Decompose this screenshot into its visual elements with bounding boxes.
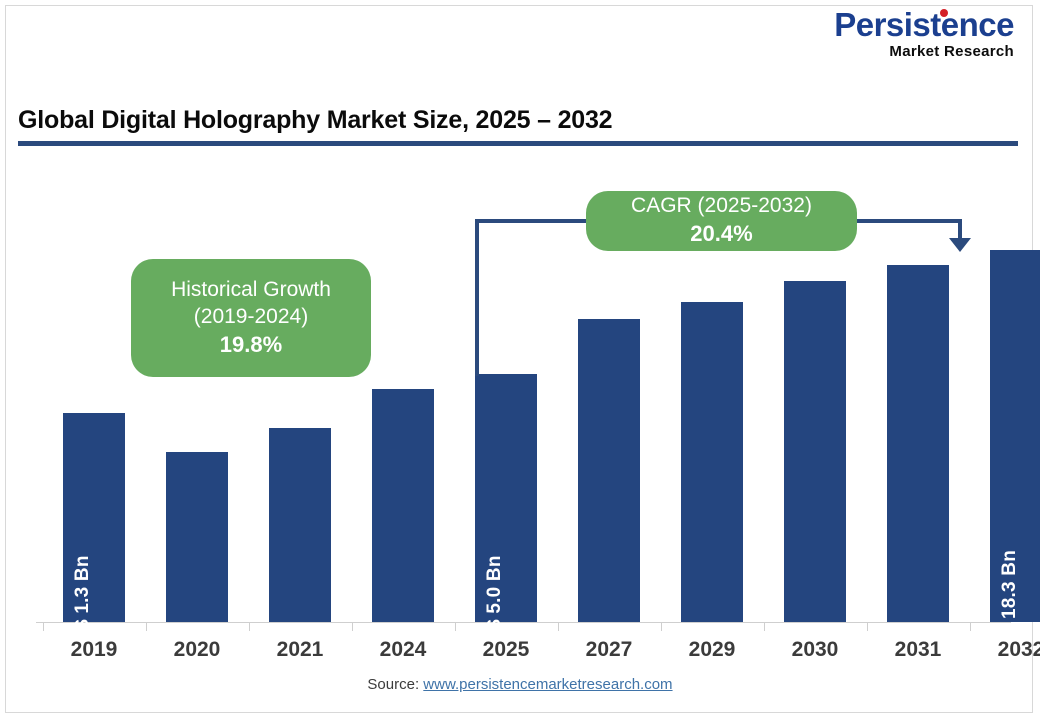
source-line: Source: www.persistencemarketresearch.co… xyxy=(0,676,1040,693)
x-axis-tick-2025 xyxy=(455,622,456,631)
x-axis-label-2029: 2029 xyxy=(661,638,763,662)
bar-2025[interactable]: US$ 5.0 Bn xyxy=(475,374,537,622)
bar-2019[interactable]: US$ 1.3 Bn xyxy=(63,413,125,622)
x-axis-label-2020: 2020 xyxy=(146,638,248,662)
x-axis-tick-2031 xyxy=(867,622,868,631)
bar-2032[interactable]: US$ 18.3 Bn xyxy=(990,250,1040,622)
x-axis-tick-2027 xyxy=(558,622,559,631)
x-axis-tick-2020 xyxy=(146,622,147,631)
x-axis-label-2031: 2031 xyxy=(867,638,969,662)
x-axis-tick-2032 xyxy=(970,622,971,631)
infographic-canvas: Persistence Market Research Global Digit… xyxy=(0,0,1040,720)
x-axis-label-2019: 2019 xyxy=(43,638,145,662)
x-axis-tick-2021 xyxy=(249,622,250,631)
bar-2031[interactable] xyxy=(887,265,949,622)
x-axis-tick-2029 xyxy=(661,622,662,631)
x-axis-line xyxy=(36,622,1011,623)
x-axis-tick-2030 xyxy=(764,622,765,631)
x-axis-label-2027: 2027 xyxy=(558,638,660,662)
cagr-callout: CAGR (2025-2032) 20.4% xyxy=(586,191,857,251)
x-axis-label-2032: 2032 xyxy=(970,638,1040,662)
bar-2029[interactable] xyxy=(681,302,743,622)
cagr-line1: CAGR (2025-2032) xyxy=(631,193,812,220)
bar-2030[interactable] xyxy=(784,281,846,622)
historical-growth-line1: Historical Growth xyxy=(171,277,331,304)
bar-2020[interactable] xyxy=(166,452,228,622)
bar-2021[interactable] xyxy=(269,428,331,622)
cagr-arrow-icon xyxy=(949,238,971,252)
bar-2024[interactable] xyxy=(372,389,434,622)
cagr-value: 20.4% xyxy=(690,220,752,249)
x-axis-tick-2019 xyxy=(43,622,44,631)
x-axis-tick-2024 xyxy=(352,622,353,631)
historical-growth-value: 19.8% xyxy=(220,331,282,360)
x-axis-label-2030: 2030 xyxy=(764,638,866,662)
source-link[interactable]: www.persistencemarketresearch.com xyxy=(423,676,672,693)
x-axis-label-2025: 2025 xyxy=(455,638,557,662)
cagr-connector-vertical-left xyxy=(475,219,479,376)
bar-2027[interactable] xyxy=(578,319,640,622)
x-axis-label-2021: 2021 xyxy=(249,638,351,662)
historical-growth-callout: Historical Growth (2019-2024) 19.8% xyxy=(131,259,371,377)
source-prefix: Source: xyxy=(367,676,423,693)
historical-growth-line2: (2019-2024) xyxy=(194,304,308,331)
x-axis-label-2024: 2024 xyxy=(352,638,454,662)
